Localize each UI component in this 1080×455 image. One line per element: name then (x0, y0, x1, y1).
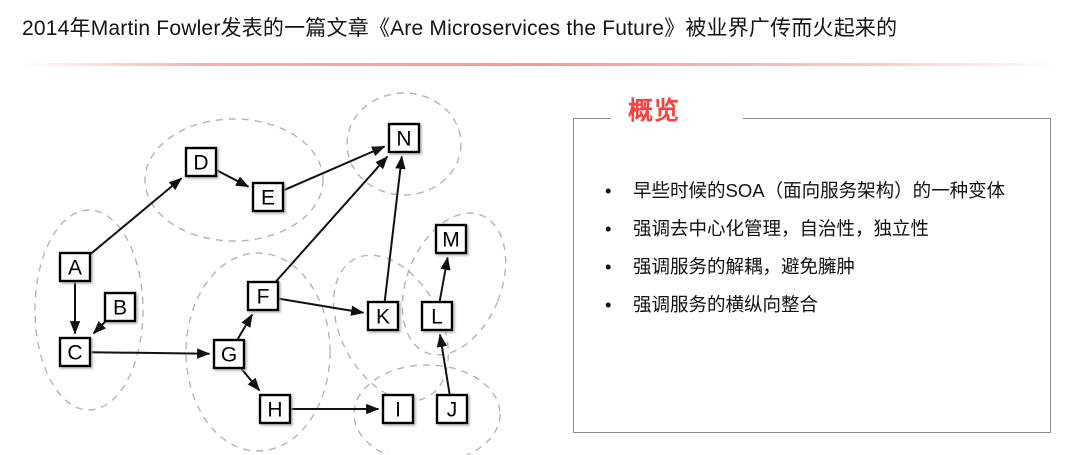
page-title: 2014年Martin Fowler发表的一篇文章《Are Microservi… (22, 14, 897, 44)
overview-bullet-item: •强调服务的横纵向整合 (599, 287, 1029, 323)
graph-node-L[interactable]: L (422, 302, 452, 330)
bullet-dot-icon: • (605, 249, 611, 285)
overview-bullet-text: 早些时候的SOA（面向服务架构）的一种变体 (633, 180, 1005, 201)
title-divider (18, 63, 1062, 66)
graph-node-G[interactable]: G (214, 340, 244, 368)
graph-node-label: E (261, 187, 275, 210)
graph-node-label: B (113, 297, 127, 320)
graph-edge-G-to-F (238, 315, 253, 340)
graph-node-label: F (257, 286, 270, 309)
overview-bullet-item: •强调去中心化管理，自治性，独立性 (599, 211, 1029, 247)
graph-edge-F-to-N (276, 157, 388, 282)
overview-heading: 概览 (628, 95, 680, 127)
graph-edge-D-to-E (217, 170, 249, 187)
graph-node-label: M (442, 229, 460, 252)
graph-edge-L-to-M (440, 258, 448, 302)
graph-node-D[interactable]: D (186, 148, 216, 176)
graph-edge-A-to-D (91, 178, 182, 254)
graph-node-label: N (396, 128, 411, 151)
overview-bullet-text: 强调服务的解耦，避免臃肿 (633, 256, 855, 277)
graph-node-K[interactable]: K (368, 302, 398, 330)
cluster-lm (383, 198, 526, 370)
overview-bullet-list: •早些时候的SOA（面向服务架构）的一种变体•强调去中心化管理，自治性，独立性•… (599, 173, 1029, 325)
graph-nodes: ABCDEFGHIJKLMN (60, 124, 467, 423)
overview-bullet-text: 强调服务的横纵向整合 (633, 294, 818, 315)
graph-node-F[interactable]: F (248, 282, 278, 310)
overview-panel: 概览 •早些时候的SOA（面向服务架构）的一种变体•强调去中心化管理，自治性，独… (573, 95, 1053, 435)
graph-edge-C-to-G (91, 352, 210, 354)
graph-node-H[interactable]: H (260, 395, 290, 423)
graph-node-label: L (431, 306, 443, 329)
graph-edge-F-to-K (279, 299, 364, 313)
overview-bullet-item: •强调服务的解耦，避免臃肿 (599, 249, 1029, 285)
graph-edge-K-to-N (385, 157, 402, 302)
bullet-dot-icon: • (605, 211, 611, 247)
graph-edge-G-to-H (241, 369, 259, 391)
graph-node-label: C (67, 342, 82, 365)
graph-node-label: H (267, 399, 282, 422)
graph-node-E[interactable]: E (253, 183, 283, 211)
graph-node-J[interactable]: J (437, 395, 467, 423)
graph-node-C[interactable]: C (60, 338, 90, 366)
graph-node-label: A (68, 257, 82, 280)
graph-canvas: ABCDEFGHIJKLMN (0, 80, 560, 455)
graph-node-B[interactable]: B (105, 293, 135, 321)
bullet-dot-icon: • (605, 287, 611, 323)
graph-node-label: G (221, 344, 237, 367)
graph-node-label: J (447, 399, 458, 422)
graph-node-label: I (395, 399, 401, 422)
overview-bullet-text: 强调去中心化管理，自治性，独立性 (633, 218, 929, 239)
graph-node-A[interactable]: A (60, 253, 90, 281)
graph-node-label: D (193, 152, 208, 175)
graph-node-I[interactable]: I (383, 395, 413, 423)
graph-node-M[interactable]: M (436, 225, 466, 253)
microservices-graph-diagram: ABCDEFGHIJKLMN (0, 80, 560, 455)
graph-node-label: K (376, 306, 390, 329)
graph-edge-B-to-C (94, 322, 106, 334)
graph-node-N[interactable]: N (389, 124, 419, 152)
overview-bullet-item: •早些时候的SOA（面向服务架构）的一种变体 (599, 173, 1029, 209)
bullet-dot-icon: • (605, 173, 611, 209)
